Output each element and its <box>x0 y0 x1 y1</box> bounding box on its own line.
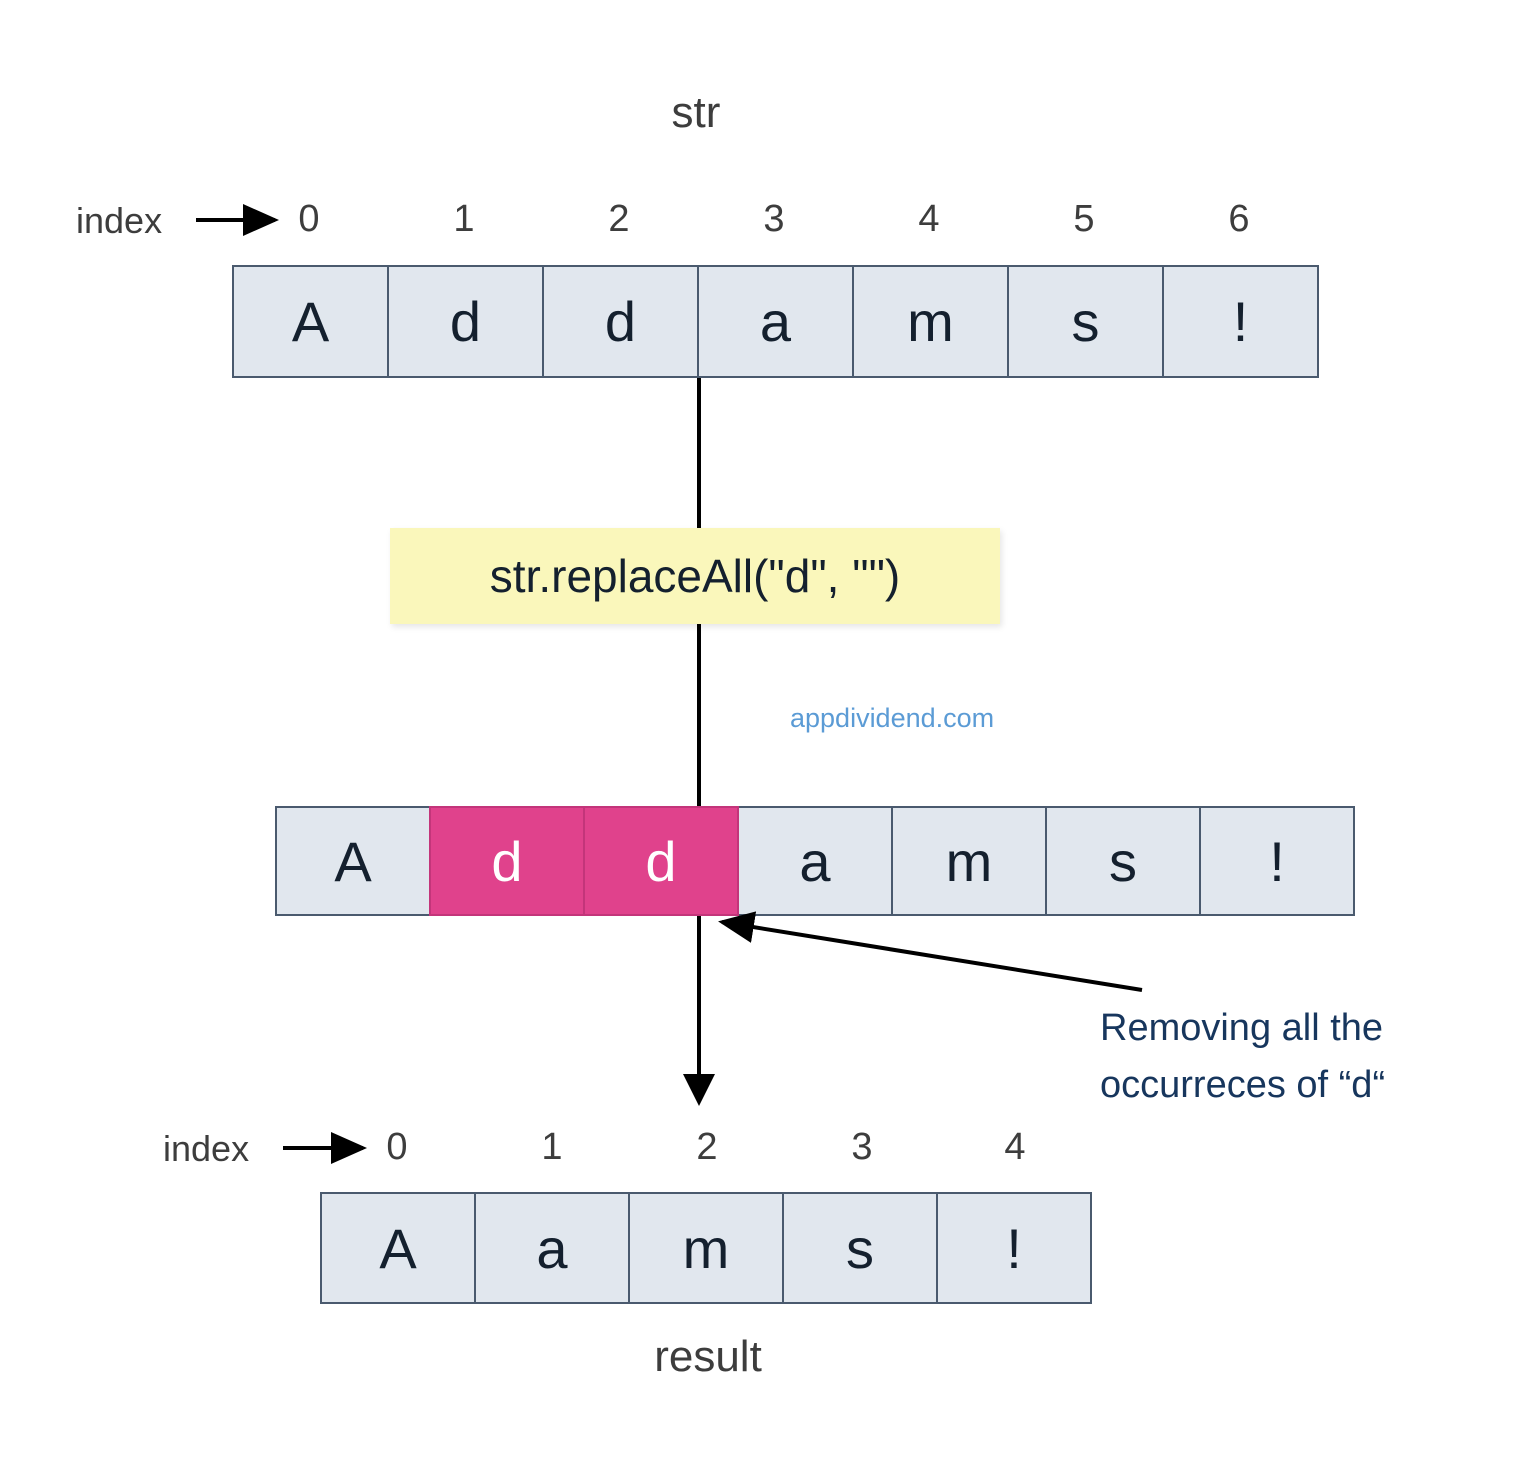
annotation-line-1: Removing all the <box>1100 1000 1385 1057</box>
cell-char: s <box>846 1216 874 1281</box>
annotation-line-2: occurreces of “d“ <box>1100 1057 1385 1114</box>
index-number: 0 <box>367 1126 427 1169</box>
array-cell: s <box>1045 806 1201 916</box>
array-cell: A <box>320 1192 476 1304</box>
array-str-highlighted: A d d a m s ! <box>275 806 1355 916</box>
index-number: 0 <box>279 198 339 241</box>
array-cell: A <box>275 806 431 916</box>
array-cell: ! <box>1199 806 1355 916</box>
array-cell-highlighted: d <box>583 806 739 916</box>
array-cell: d <box>387 265 544 378</box>
array-cell: a <box>697 265 854 378</box>
cell-char: a <box>799 829 830 894</box>
index-number: 6 <box>1209 198 1269 241</box>
array-cell: a <box>737 806 893 916</box>
cell-char: ! <box>1006 1216 1022 1281</box>
index-numbers-bottom: 0 1 2 3 4 <box>0 1126 1536 1176</box>
array-cell: d <box>542 265 699 378</box>
array-cell-highlighted: d <box>429 806 585 916</box>
page-title-str: str <box>576 88 816 138</box>
index-number: 1 <box>434 198 494 241</box>
cell-char: ! <box>1269 829 1285 894</box>
cell-char: s <box>1109 829 1137 894</box>
array-cell: ! <box>936 1192 1092 1304</box>
cell-char: A <box>292 289 329 354</box>
page-title-result: result <box>588 1332 828 1382</box>
cell-char: d <box>645 829 676 894</box>
array-result: A a m s ! <box>320 1192 1092 1304</box>
array-cell: s <box>782 1192 938 1304</box>
index-numbers-top: 0 1 2 3 4 5 6 <box>0 198 1536 248</box>
cell-char: d <box>491 829 522 894</box>
annotation-removing-occurrences: Removing all the occurreces of “d“ <box>1100 1000 1385 1114</box>
cell-char: a <box>760 289 791 354</box>
index-number: 4 <box>899 198 959 241</box>
diagram-canvas: str index 0 1 2 3 4 5 6 A d d a m s ! st… <box>0 0 1536 1465</box>
cell-char: a <box>536 1216 567 1281</box>
annotation-pointer-arrow <box>722 922 1142 990</box>
index-number: 3 <box>744 198 804 241</box>
cell-char: m <box>907 289 954 354</box>
array-cell: m <box>852 265 1009 378</box>
index-number: 5 <box>1054 198 1114 241</box>
index-number: 1 <box>522 1126 582 1169</box>
cell-char: m <box>946 829 993 894</box>
cell-char: ! <box>1233 289 1249 354</box>
index-number: 4 <box>985 1126 1045 1169</box>
array-cell: m <box>628 1192 784 1304</box>
cell-char: s <box>1072 289 1100 354</box>
array-cell: m <box>891 806 1047 916</box>
index-number: 2 <box>589 198 649 241</box>
array-cell: A <box>232 265 389 378</box>
index-number: 3 <box>832 1126 892 1169</box>
array-cell: s <box>1007 265 1164 378</box>
cell-char: d <box>605 289 636 354</box>
cell-char: A <box>334 829 371 894</box>
cell-char: d <box>450 289 481 354</box>
array-cell: a <box>474 1192 630 1304</box>
array-str: A d d a m s ! <box>232 265 1319 378</box>
array-cell: ! <box>1162 265 1319 378</box>
operation-callout: str.replaceAll("d", "") <box>390 528 1000 624</box>
index-number: 2 <box>677 1126 737 1169</box>
cell-char: A <box>379 1216 416 1281</box>
watermark-appdividend: appdividend.com <box>790 703 994 734</box>
cell-char: m <box>683 1216 730 1281</box>
